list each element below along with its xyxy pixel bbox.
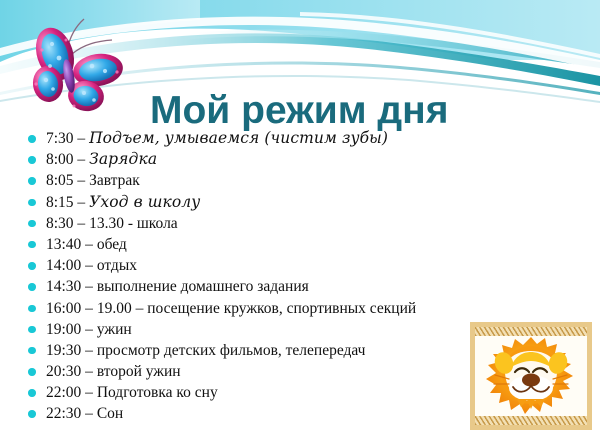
bullet-dot-icon xyxy=(28,199,36,207)
schedule-item-time: 8:15 – xyxy=(46,194,89,211)
bullet-dot-icon xyxy=(28,347,36,355)
presentation-slide: Мой режим дня 7:30 – Подъем, умываемся (… xyxy=(0,0,600,438)
schedule-item-time: 13:40 – xyxy=(46,236,97,253)
schedule-item-text: 19.00 – посещение кружков, спортивных се… xyxy=(97,300,416,317)
schedule-item: 8:05 – Завтрак xyxy=(22,170,492,191)
bullet-dot-icon xyxy=(28,156,36,164)
bullet-dot-icon xyxy=(28,305,36,313)
schedule-item-text: отдых xyxy=(97,257,137,274)
schedule-item-text: Подготовка ко сну xyxy=(97,384,218,401)
schedule-item-time: 22:00 – xyxy=(46,384,97,401)
schedule-item-time: 16:00 – xyxy=(46,300,97,317)
schedule-item-text: обед xyxy=(97,236,127,253)
schedule-item-time: 8:00 – xyxy=(46,151,89,168)
schedule-item-time: 8:05 – xyxy=(46,172,89,189)
butterfly-decoration-icon xyxy=(22,14,130,118)
bullet-dot-icon xyxy=(28,262,36,270)
schedule-item: 8:00 – Зарядка xyxy=(22,149,492,170)
schedule-item-text: Зарядка xyxy=(89,150,157,168)
bullet-dot-icon xyxy=(28,283,36,291)
schedule-item-text: 13.30 - школа xyxy=(89,215,178,232)
schedule-item-text: выполнение домашнего задания xyxy=(97,278,309,295)
schedule-item: 22:00 – Подготовка ко сну xyxy=(22,382,492,403)
bullet-dot-icon xyxy=(28,177,36,185)
schedule-item-time: 22:30 – xyxy=(46,405,97,422)
schedule-item: 19:30 – просмотр детских фильмов, телепе… xyxy=(22,340,492,361)
frame-hatch-bottom xyxy=(475,416,587,425)
schedule-item: 16:00 – 19.00 – посещение кружков, спорт… xyxy=(22,298,492,319)
bullet-dot-icon xyxy=(28,220,36,228)
schedule-item-time: 19:00 – xyxy=(46,321,97,338)
frame-hatch-top xyxy=(475,327,587,336)
schedule-item: 22:30 – Сон xyxy=(22,403,492,424)
schedule-item-time: 8:30 – xyxy=(46,215,89,232)
schedule-item-time: 14:30 – xyxy=(46,278,97,295)
schedule-item-text: второй ужин xyxy=(97,363,181,380)
schedule-item: 19:00 – ужин xyxy=(22,319,492,340)
lion-image xyxy=(470,322,592,430)
schedule-item: 13:40 – обед xyxy=(22,234,492,255)
schedule-item-time: 7:30 – xyxy=(46,130,89,147)
bullet-dot-icon xyxy=(28,241,36,249)
schedule-item: 14:00 – отдых xyxy=(22,255,492,276)
schedule-item-text: Подъем, умываемся (чистим зубы) xyxy=(89,129,388,147)
schedule-item-text: просмотр детских фильмов, телепередач xyxy=(97,342,366,359)
schedule-item-time: 20:30 – xyxy=(46,363,97,380)
bullet-dot-icon xyxy=(28,326,36,334)
schedule-item-time: 14:00 – xyxy=(46,257,97,274)
bullet-dot-icon xyxy=(28,410,36,418)
bullet-dot-icon xyxy=(28,389,36,397)
schedule-item-text: Завтрак xyxy=(89,172,140,189)
schedule-item: 8:30 – 13.30 - школа xyxy=(22,213,492,234)
schedule-item-text: ужин xyxy=(97,321,132,338)
schedule-item-text: Уход в школу xyxy=(89,193,200,211)
bullet-dot-icon xyxy=(28,368,36,376)
schedule-item: 7:30 – Подъем, умываемся (чистим зубы) xyxy=(22,128,492,149)
schedule-item-text: Сон xyxy=(97,405,123,422)
schedule-item-time: 19:30 – xyxy=(46,342,97,359)
bullet-dot-icon xyxy=(28,135,36,143)
schedule-item: 14:30 – выполнение домашнего задания xyxy=(22,276,492,297)
daily-schedule-list: 7:30 – Подъем, умываемся (чистим зубы)8:… xyxy=(22,128,492,425)
schedule-item: 20:30 – второй ужин xyxy=(22,361,492,382)
schedule-item: 8:15 – Уход в школу xyxy=(22,192,492,213)
